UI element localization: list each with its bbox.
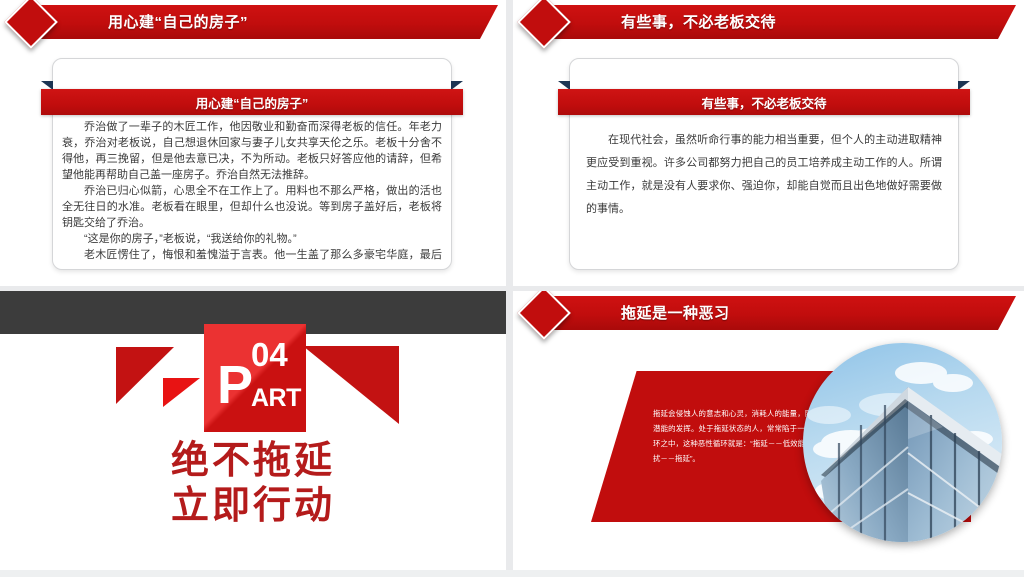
section-heading-line1: 绝不拖延 <box>128 439 378 484</box>
header-title: 用心建“自己的房子” <box>108 11 248 32</box>
card-body: 乔治做了一辈子的木匠工作，他因敬业和勤奋而深得老板的信任。年老力衰，乔治对老板说… <box>62 119 442 263</box>
slide-build-your-own-house[interactable]: 用心建“自己的房子” 用心建“自己的房子” 乔治做了一辈子的木匠工作，他因敬业和… <box>0 0 506 286</box>
part-number: 04 <box>251 338 288 371</box>
content-card: 用心建“自己的房子” 乔治做了一辈子的木匠工作，他因敬业和勤奋而深得老板的信任。… <box>52 58 452 270</box>
header-title: 有些事，不必老板交待 <box>621 11 776 32</box>
slide-some-things-no-boss-needed[interactable]: 有些事，不必老板交待 有些事，不必老板交待 在现代社会，虽然听命行事的能力相当重… <box>513 0 1024 286</box>
part-number-graphic: P 04 ART <box>105 324 400 440</box>
paragraph: 在现代社会，虽然听命行事的能力相当重要，但个人的主动进取精神更应受到重视。许多公… <box>586 129 942 221</box>
paragraph: 乔治已归心似箭，心思全不在工作上了。用料也不那么严格，做出的活也全无往日的水准。… <box>62 183 442 231</box>
section-heading: 绝不拖延 立即行动 <box>128 439 378 529</box>
header-banner-shape <box>30 5 498 39</box>
card-ribbon: 有些事，不必老板交待 <box>558 81 970 107</box>
glass-building-sky-photo <box>803 343 1002 542</box>
slide-procrastination-bad-habit[interactable]: 拖延是一种恶习 拖延会侵蚀人的意志和心灵，消耗人的能量，阻碍人的潜能的发挥。处于… <box>513 291 1024 577</box>
left-small-triangle-shape <box>163 378 200 407</box>
section-heading-line2: 立即行动 <box>128 484 378 529</box>
part-box-shape: P 04 ART <box>204 324 306 432</box>
card-ribbon: 用心建“自己的房子” <box>41 81 463 107</box>
card-title: 有些事，不必老板交待 <box>701 93 826 112</box>
next-row-strip <box>0 570 1024 577</box>
paragraph: “这是你的房子，”老板说，“我送给你的礼物。” <box>62 231 442 247</box>
slide-header: 有些事，不必老板交待 <box>513 0 1024 48</box>
right-triangle-shape <box>303 346 399 424</box>
slide-part-04-section[interactable]: P 04 ART 绝不拖延 立即行动 <box>0 291 506 577</box>
header-banner-shape <box>543 5 1016 39</box>
ribbon-body: 用心建“自己的房子” <box>41 89 463 115</box>
part-word: ART <box>251 386 301 411</box>
slide-header: 拖延是一种恶习 <box>513 291 1024 339</box>
content-card: 有些事，不必老板交待 在现代社会，虽然听命行事的能力相当重要，但个人的主动进取精… <box>569 58 959 270</box>
paragraph: 乔治做了一辈子的木匠工作，他因敬业和勤奋而深得老板的信任。年老力衰，乔治对老板说… <box>62 119 442 183</box>
slide-divider-horizontal <box>0 286 1024 291</box>
ribbon-body: 有些事，不必老板交待 <box>558 89 970 115</box>
part-letter: P <box>217 358 253 412</box>
card-title: 用心建“自己的房子” <box>196 93 309 112</box>
card-body: 在现代社会，虽然听命行事的能力相当重要，但个人的主动进取精神更应受到重视。许多公… <box>586 129 942 263</box>
slide-deck: 用心建“自己的房子” 用心建“自己的房子” 乔治做了一辈子的木匠工作，他因敬业和… <box>0 0 1024 577</box>
header-title: 拖延是一种恶习 <box>621 302 730 323</box>
paragraph: 老木匠愣住了，悔恨和羞愧溢于言表。他一生盖了那么多豪宅华庭，最后却为自己建了这样… <box>62 247 442 263</box>
header-banner-shape <box>543 296 1016 330</box>
slide-header: 用心建“自己的房子” <box>0 0 506 48</box>
